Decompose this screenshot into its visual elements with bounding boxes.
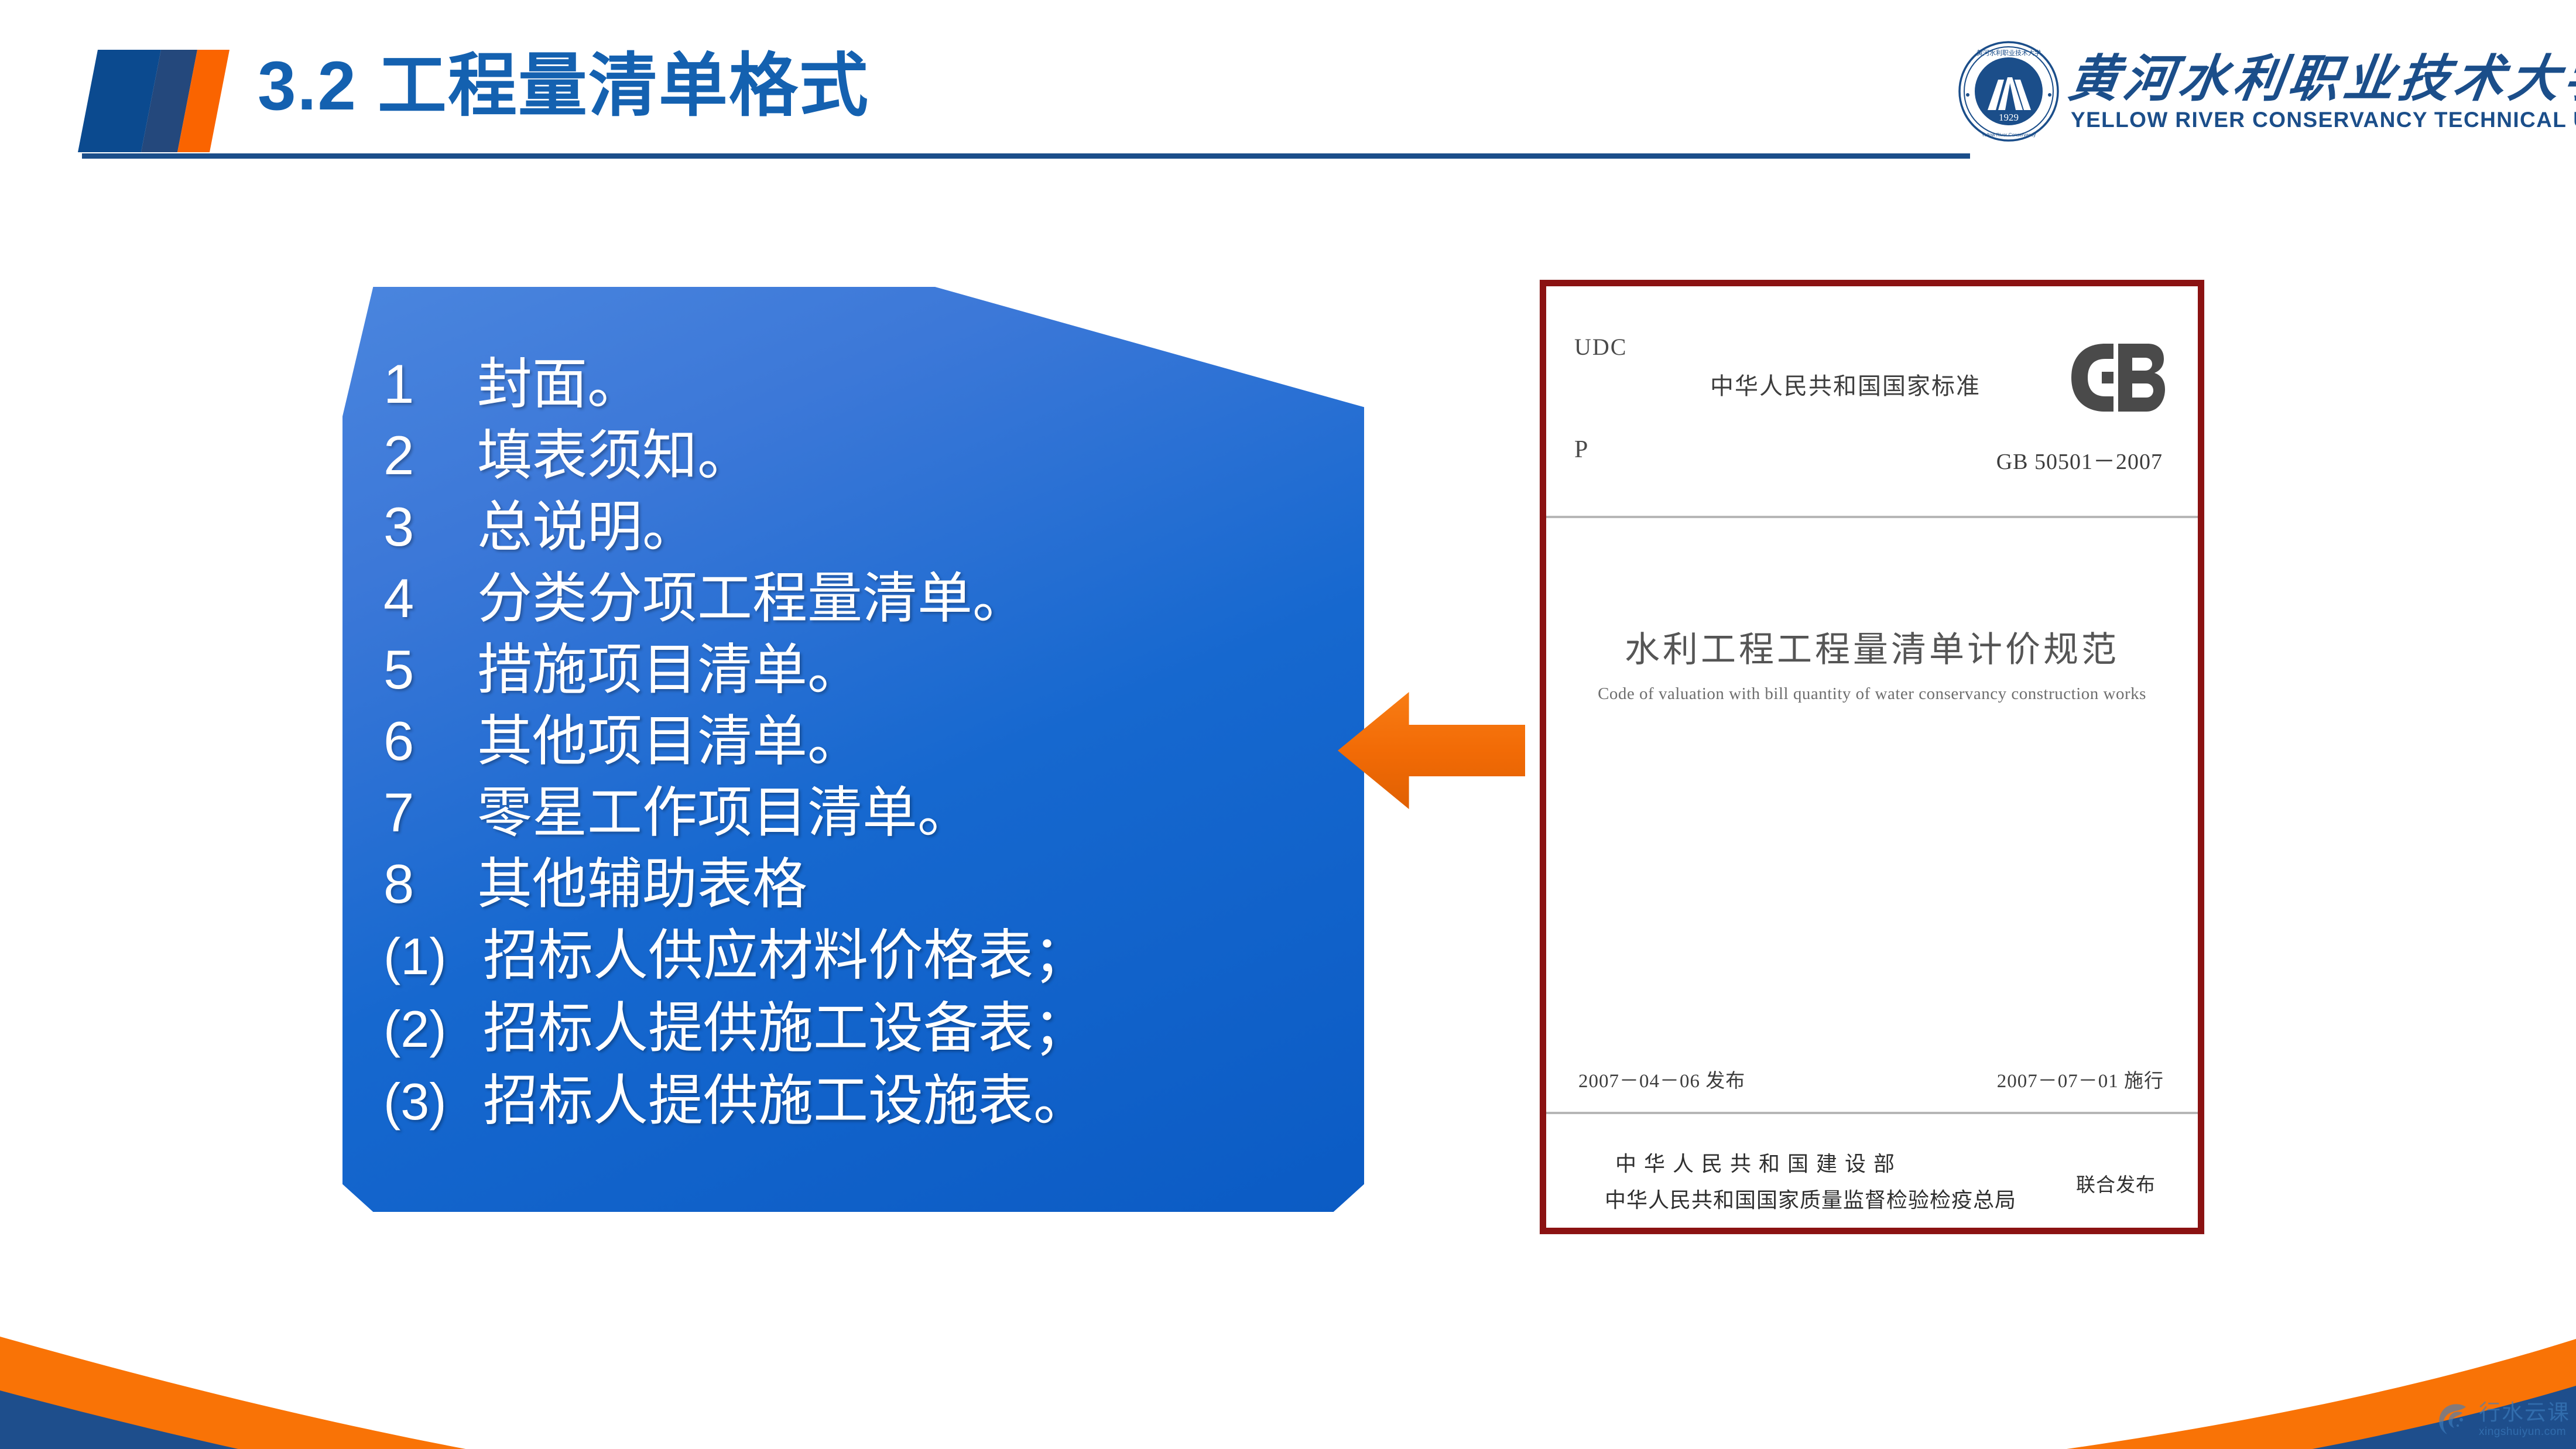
- list-item-label: 招标人供应材料价格表；: [483, 920, 1088, 991]
- list-item: 5 措施项目清单。: [383, 634, 1341, 705]
- slide-header: 3.2 工程量清单格式 1929 黄河水利职业技术大学 Yellow River…: [0, 0, 2576, 164]
- list-item-number: 3: [383, 491, 477, 563]
- list-item: 7 零星工作项目清单。: [383, 777, 1341, 848]
- svg-text:Yellow River Conservancy: Yellow River Conservancy: [1982, 132, 2036, 138]
- university-emblem-icon: 1929 黄河水利职业技术大学 Yellow River Conservancy: [1958, 41, 2059, 142]
- university-name-en: YELLOW RIVER CONSERVANCY TECHNICAL UNIVE…: [2071, 108, 2574, 132]
- doc-divider-top: [1546, 516, 2198, 518]
- list-item-label: 零星工作项目清单。: [477, 777, 972, 848]
- doc-divider-bottom: [1546, 1112, 2198, 1114]
- list-item-label: 总说明。: [477, 491, 697, 563]
- standard-document-cover: UDC 中华人民共和国国家标准 P GB 50501－2007 水利工程工程量清…: [1540, 280, 2204, 1234]
- list-item-label: 分类分项工程量清单。: [477, 563, 1027, 634]
- watermark: 行水云课 xingshuiyun.com: [2432, 1397, 2570, 1441]
- list-item: (3) 招标人提供施工设施表。: [383, 1065, 1341, 1138]
- bottom-decoration: [0, 1256, 2576, 1449]
- list-item: 3 总说明。: [383, 491, 1341, 563]
- left-arrow-icon: [1338, 692, 1525, 809]
- doc-issue-date: 2007－04－06 发布: [1578, 1065, 1745, 1093]
- doc-effective-date: 2007－07－01 施行: [1997, 1065, 2164, 1093]
- list-item-label: 封面。: [477, 348, 642, 420]
- list-item: (2) 招标人提供施工设备表；: [383, 992, 1341, 1065]
- list-item-label: 招标人提供施工设备表；: [483, 992, 1088, 1064]
- content-callout-box: 1 封面。 2 填表须知。 3 总说明。 4 分类分项工程量清单。 5 措施项目…: [342, 287, 1364, 1212]
- university-name-cn: 黄河水利职业技术大学: [2064, 37, 2549, 111]
- list-item-number: 6: [383, 705, 477, 777]
- doc-joint-release-label: 联合发布: [2076, 1169, 2156, 1197]
- page-title: 3.2 工程量清单格式: [258, 52, 869, 121]
- list-item-number: 5: [383, 634, 477, 705]
- svg-text:1929: 1929: [1999, 112, 2019, 123]
- list-item-label: 其他项目清单。: [477, 705, 862, 777]
- doc-title-en: Code of valuation with bill quantity of …: [1546, 684, 2198, 704]
- list-item: (1) 招标人供应材料价格表；: [383, 920, 1341, 992]
- doc-publisher-ministry: 中华人民共和国建设部: [1615, 1147, 1902, 1177]
- list-item-number: 2: [383, 420, 477, 491]
- header-divider-rule: [82, 153, 1970, 159]
- bill-format-list: 1 封面。 2 填表须知。 3 总说明。 4 分类分项工程量清单。 5 措施项目…: [383, 348, 1341, 1138]
- list-item-number: 1: [383, 348, 477, 420]
- list-item-label: 措施项目清单。: [477, 634, 862, 705]
- svg-text:黄河水利职业技术大学: 黄河水利职业技术大学: [1976, 49, 2041, 57]
- arrow-shape: [1338, 692, 1525, 809]
- list-item: 2 填表须知。: [383, 420, 1341, 491]
- watermark-name: 行水云课: [2479, 1402, 2570, 1423]
- doc-title-cn: 水利工程工程量清单计价规范: [1546, 621, 2198, 672]
- list-item-label: 招标人提供施工设施表。: [483, 1065, 1088, 1136]
- doc-p-label: P: [1574, 436, 1588, 464]
- list-item-number: (1): [383, 921, 483, 992]
- list-item: 6 其他项目清单。: [383, 705, 1341, 777]
- doc-udc-label: UDC: [1574, 333, 1627, 361]
- list-item-number: 4: [383, 563, 477, 634]
- watermark-url: xingshuiyun.com: [2479, 1426, 2570, 1437]
- list-item-label: 填表须知。: [477, 420, 752, 491]
- list-item-number: 7: [383, 777, 477, 848]
- doc-standard-code: GB 50501－2007: [1996, 443, 2163, 475]
- list-item-label: 其他辅助表格: [477, 848, 807, 920]
- decoration-orange-wave: [0, 1337, 2576, 1449]
- wave-logo-icon: [2432, 1397, 2475, 1441]
- doc-national-standard-label: 中华人民共和国国家标准: [1710, 367, 1981, 401]
- list-item-number: 8: [383, 848, 477, 920]
- list-item: 8 其他辅助表格: [383, 848, 1341, 920]
- gb-standard-logo-icon: [2067, 340, 2167, 415]
- list-item: 1 封面。: [383, 348, 1341, 420]
- doc-publisher-quality-bureau: 中华人民共和国国家质量监督检验检疫总局: [1605, 1183, 2016, 1214]
- list-item: 4 分类分项工程量清单。: [383, 563, 1341, 634]
- list-item-number: (2): [383, 994, 483, 1065]
- list-item-number: (3): [383, 1066, 483, 1138]
- university-logo: 1929 黄河水利职业技术大学 Yellow River Conservancy…: [1958, 35, 2544, 146]
